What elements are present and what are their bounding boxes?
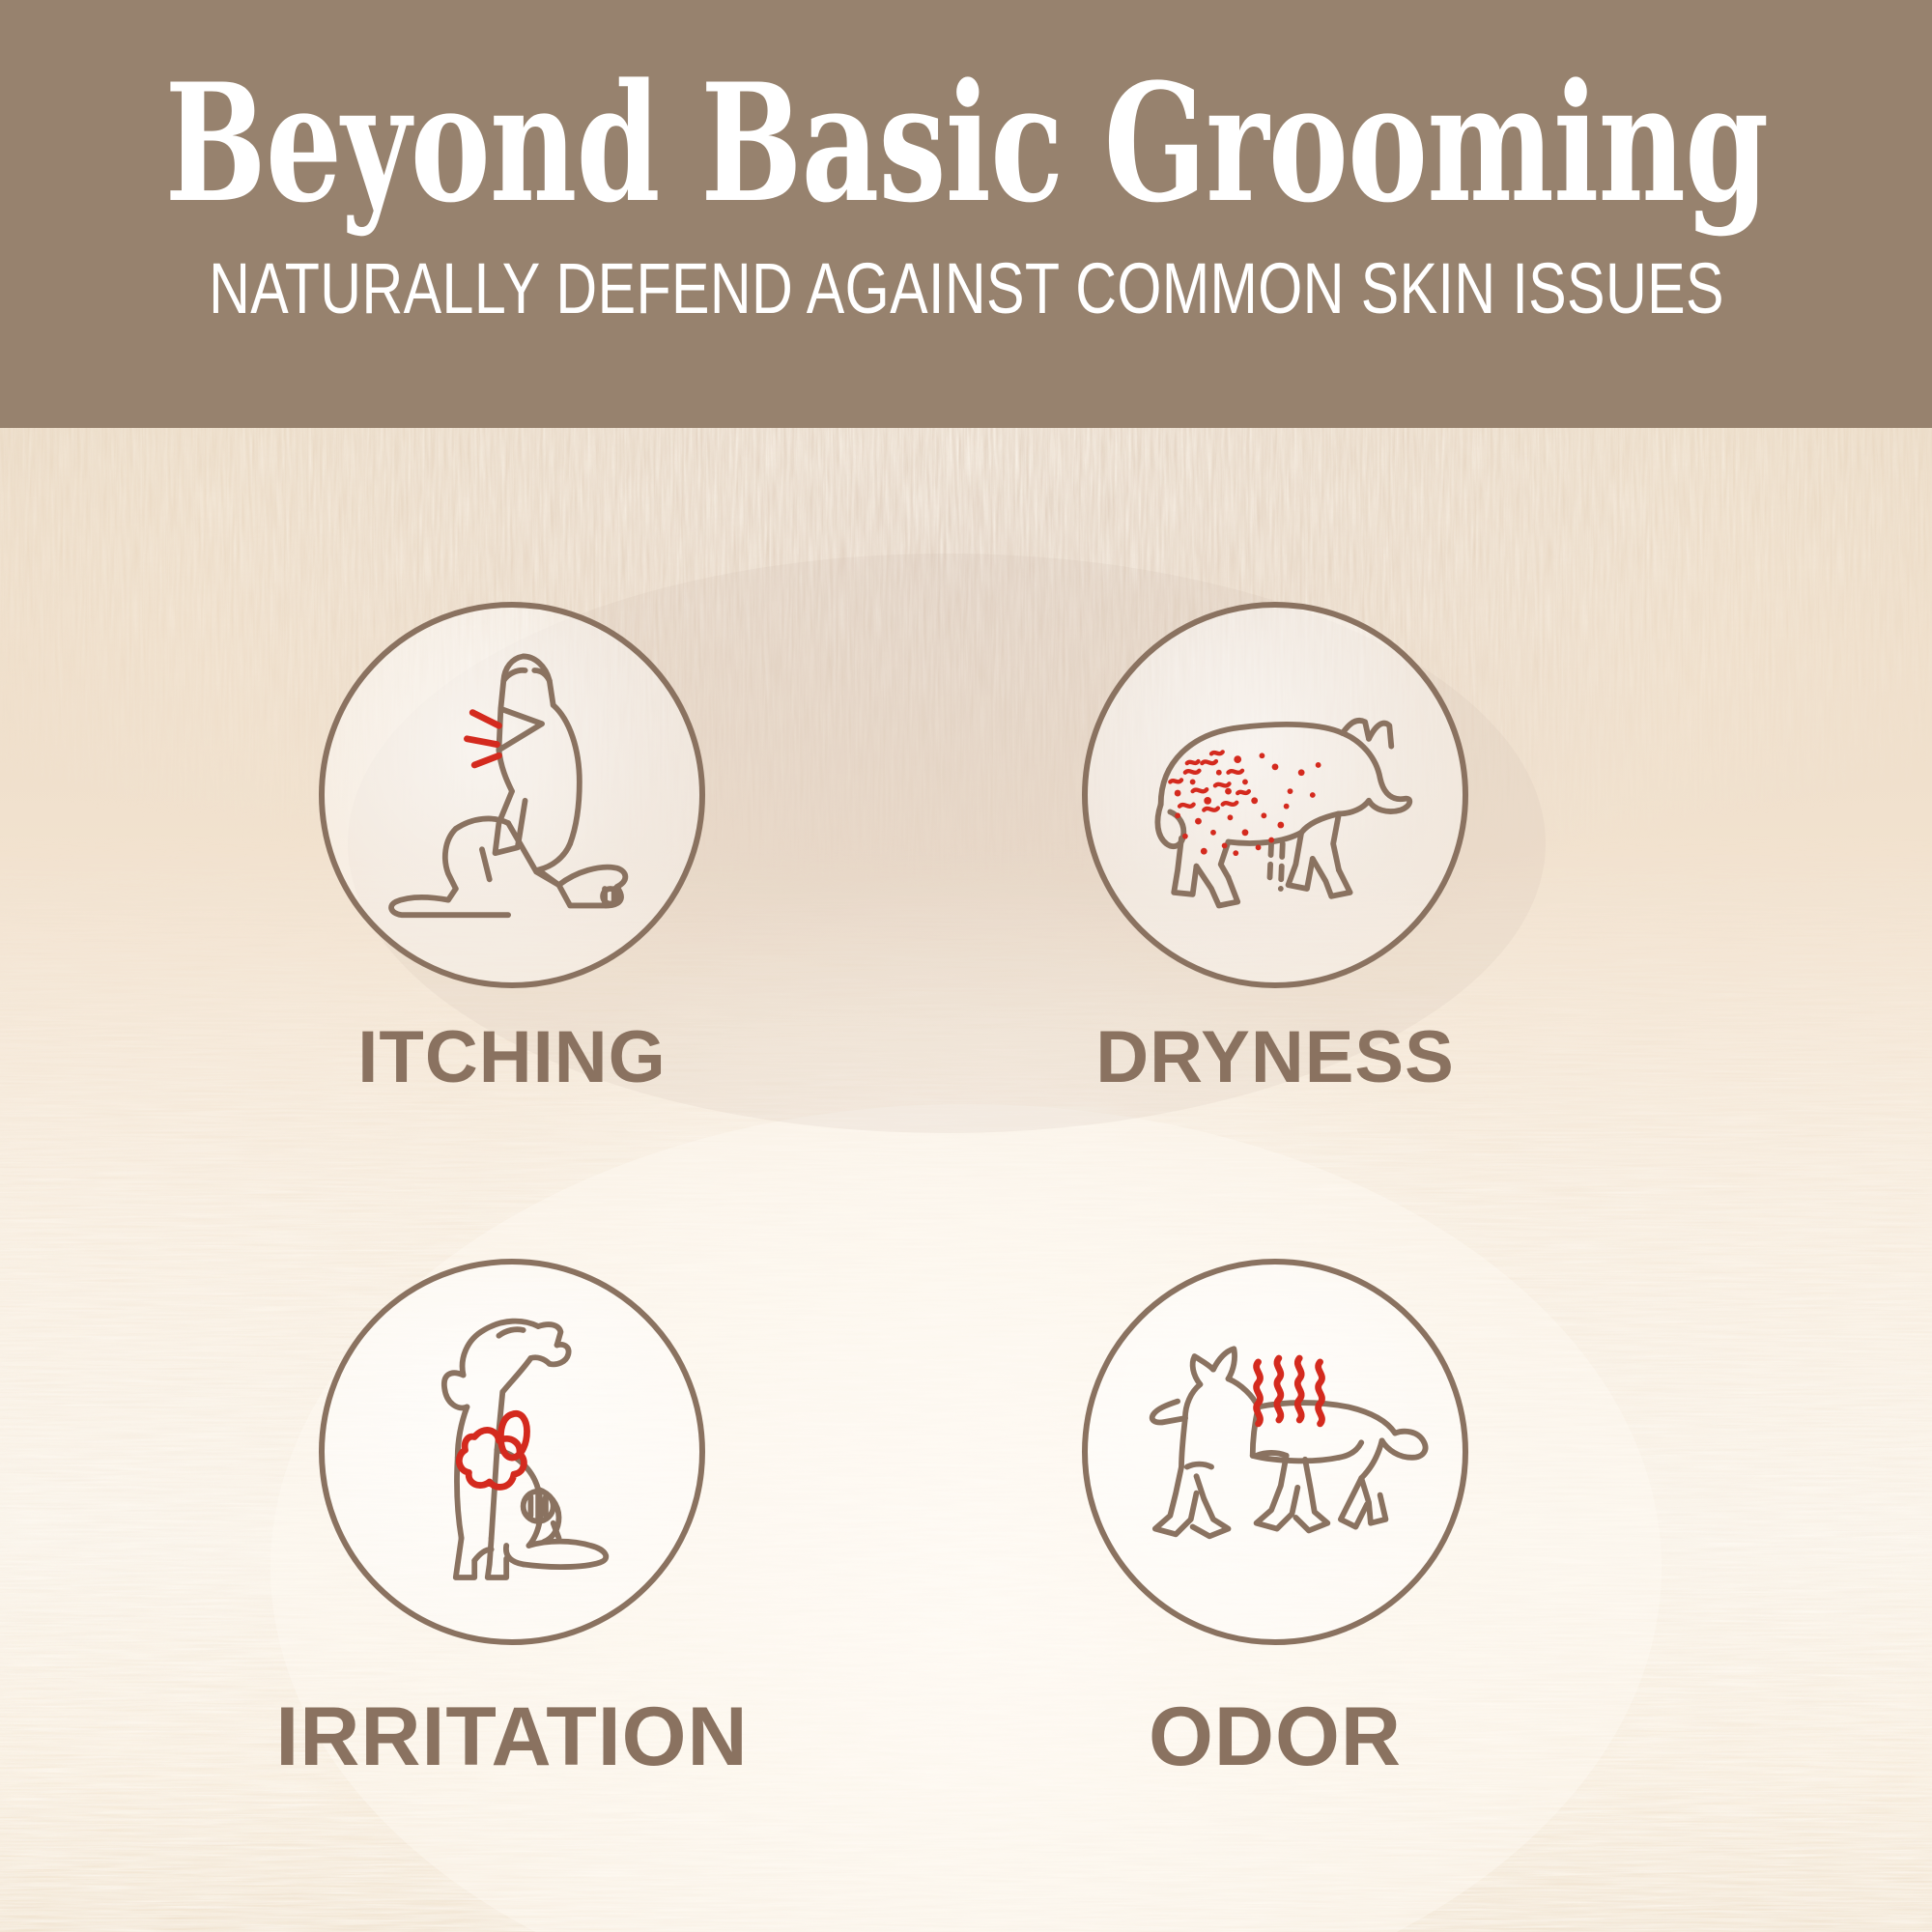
issue-label-itching: ITCHING — [203, 1021, 821, 1094]
issue-icon-circle-odor — [1082, 1259, 1468, 1645]
issue-icon-circle-dryness — [1082, 602, 1468, 988]
issue-card-itching[interactable]: ITCHING — [203, 602, 821, 1094]
dog-odor-icon — [1088, 1264, 1463, 1639]
issue-label-dryness: DRYNESS — [966, 1021, 1584, 1094]
issue-label-odor: ODOR — [966, 1695, 1584, 1778]
dog-scratching-icon — [325, 608, 699, 982]
issue-card-irritation[interactable]: IRRITATION — [203, 1259, 821, 1778]
dog-flaky-skin-icon — [1088, 608, 1463, 982]
issue-icon-circle-irritation — [319, 1259, 705, 1645]
header-band: Beyond Basic Grooming NATURALLY DEFEND A… — [0, 0, 1932, 428]
skin-issues-grid: ITCHING — [0, 428, 1932, 1932]
dog-irritated-patch-icon — [325, 1264, 699, 1639]
page-subtitle: NATURALLY DEFEND AGAINST COMMON SKIN ISS… — [209, 253, 1724, 325]
issue-card-odor[interactable]: ODOR — [966, 1259, 1584, 1778]
poster-canvas: Beyond Basic Grooming NATURALLY DEFEND A… — [0, 0, 1932, 1932]
issue-label-irritation: IRRITATION — [203, 1695, 821, 1778]
issue-card-dryness[interactable]: DRYNESS — [966, 602, 1584, 1094]
issue-icon-circle-itching — [319, 602, 705, 988]
page-title: Beyond Basic Grooming — [164, 62, 1768, 224]
